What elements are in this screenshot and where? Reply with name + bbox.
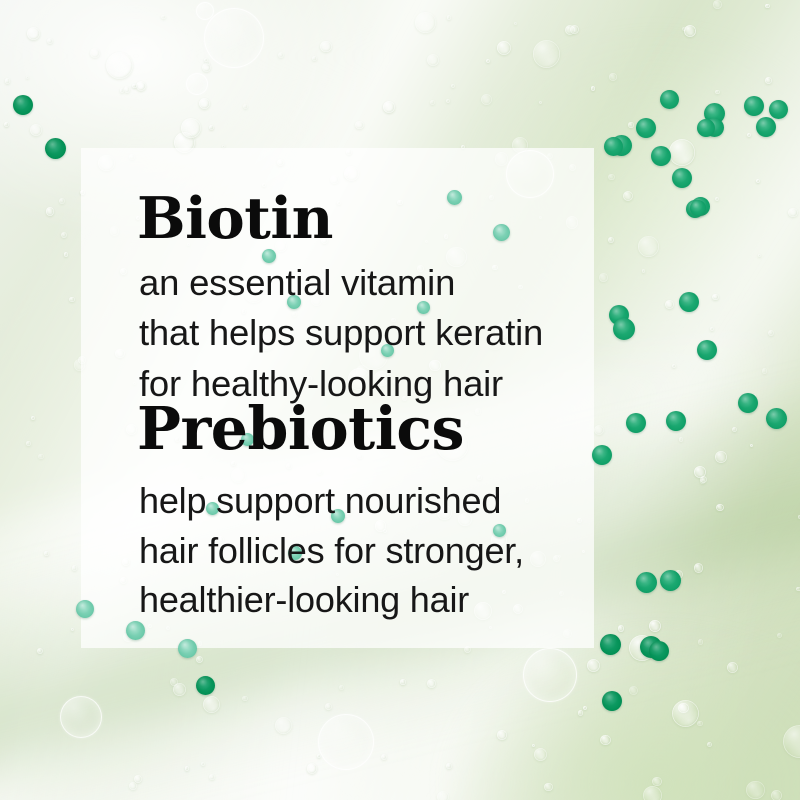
text-content: Biotin an essential vitamin that helps s… [0, 0, 800, 800]
body-biotin-line-1: an essential vitamin [139, 258, 543, 308]
headline-biotin: Biotin [137, 190, 333, 247]
body-prebiotics-line-1: help support nourished [139, 476, 524, 526]
marketing-graphic: Biotin an essential vitamin that helps s… [0, 0, 800, 800]
body-prebiotics: help support nourished hair follicles fo… [139, 476, 524, 625]
body-biotin-line-2: that helps support keratin [139, 308, 543, 358]
headline-prebiotics: Prebiotics [137, 400, 464, 459]
body-prebiotics-line-3: healthier-looking hair [139, 575, 524, 625]
body-prebiotics-line-2: hair follicles for stronger, [139, 526, 524, 576]
body-biotin: an essential vitamin that helps support … [139, 258, 543, 409]
